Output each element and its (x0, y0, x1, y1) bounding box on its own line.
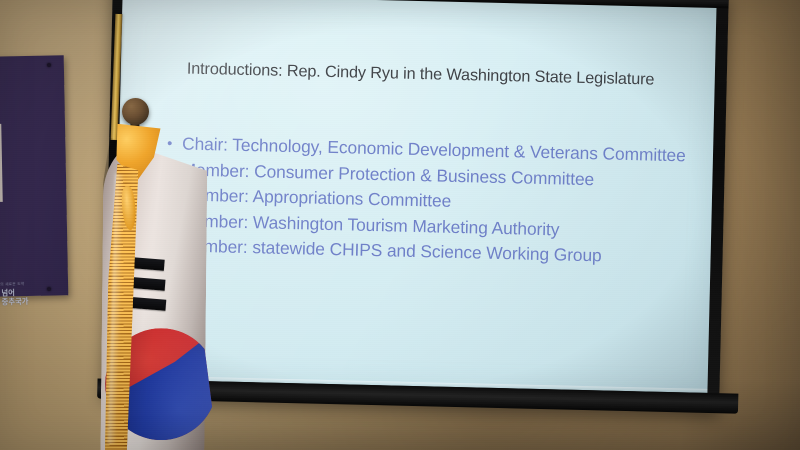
banner-text-line-1: 단을 넘어 (0, 288, 15, 298)
banner-pin-top-icon (47, 63, 51, 67)
flag-pole-finial-icon (122, 98, 149, 125)
banner-text-line-2: 로를 중추국가 (0, 297, 29, 307)
wall-banner (0, 55, 68, 296)
korean-flag (82, 129, 211, 450)
banner-text-small: 대한민국의 새로운 도약 (0, 281, 48, 287)
wall-banner-text: 대한민국의 새로운 도약 단을 넘어 로를 중추국가 (0, 281, 48, 307)
screenshot-root: 대한민국의 새로운 도약 단을 넘어 로를 중추국가 Introductions… (0, 0, 800, 450)
slide-bullet-list: Chair: Technology, Economic Development … (164, 131, 686, 271)
slide-title: Introductions: Rep. Cindy Ryu in the Was… (187, 60, 655, 90)
